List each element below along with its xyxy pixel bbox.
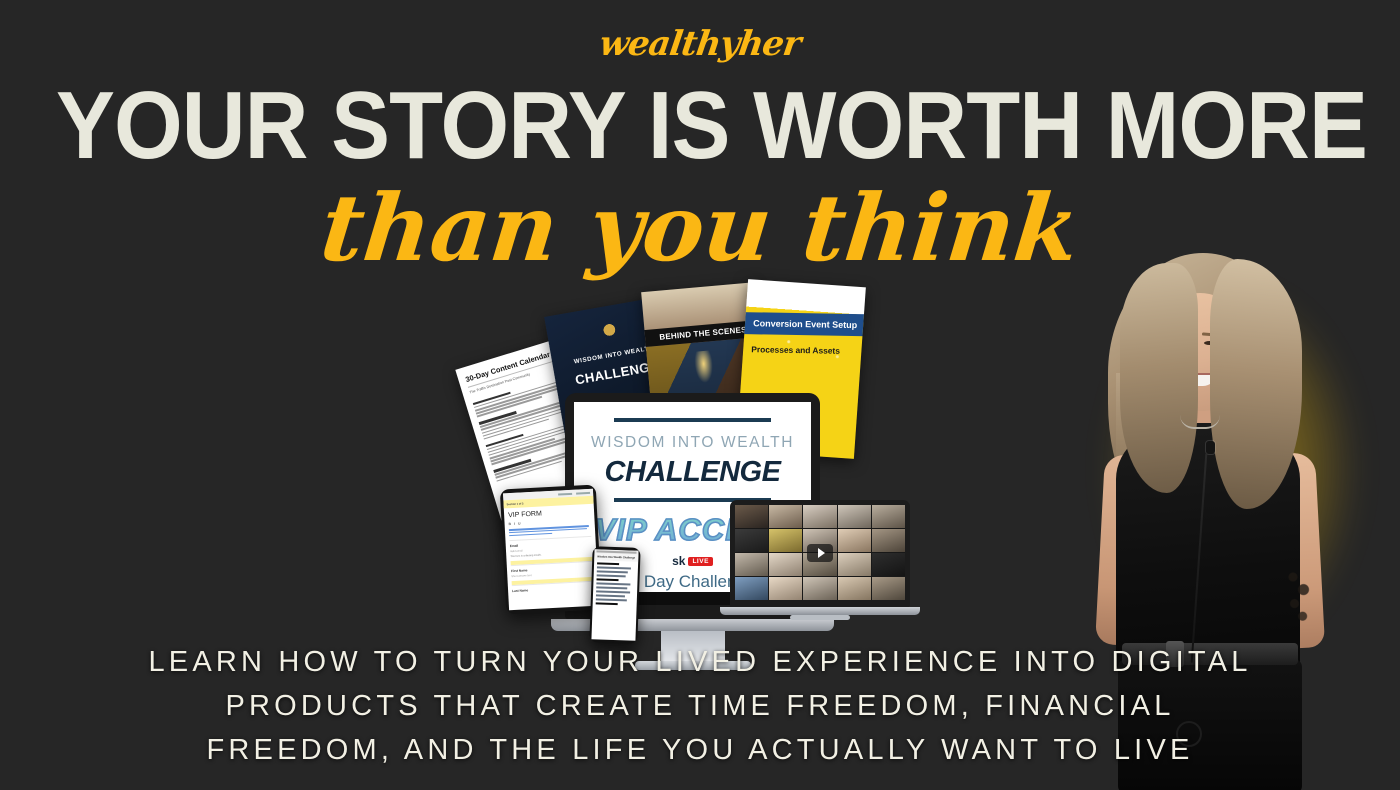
participant-tile bbox=[872, 529, 905, 552]
tablet-screen: Section 1 of 3 VIP FORM B I U Email Vali… bbox=[503, 489, 599, 611]
video-laptop-base bbox=[720, 607, 920, 615]
brand-logo: wealthyher bbox=[0, 24, 1400, 64]
participant-tile bbox=[838, 577, 871, 600]
participant-tile bbox=[838, 529, 871, 552]
phone-mockup: Wisdom Into Wealth Challenge bbox=[589, 546, 640, 644]
video-call-laptop-mockup bbox=[730, 500, 910, 620]
tagline-line-1: LEARN HOW TO TURN YOUR LIVED EXPERIENCE … bbox=[110, 640, 1290, 684]
screen-title: CHALLENGE bbox=[605, 456, 781, 489]
form-section-label: Section 1 of 3 bbox=[506, 502, 523, 506]
phone-session-list bbox=[593, 560, 639, 607]
form-body: VIP FORM B I U Email Valid email This fo… bbox=[504, 504, 598, 597]
participant-tile bbox=[769, 577, 802, 600]
participant-tile bbox=[872, 577, 905, 600]
italic-icon[interactable]: I bbox=[514, 522, 515, 526]
participant-tile bbox=[735, 553, 768, 576]
participant-tile bbox=[735, 505, 768, 528]
tablet-mockup: Section 1 of 3 VIP FORM B I U Email Vali… bbox=[500, 485, 602, 615]
participant-tile bbox=[803, 505, 836, 528]
participant-tile bbox=[735, 529, 768, 552]
participant-tile bbox=[769, 553, 802, 576]
video-laptop-foot bbox=[790, 615, 850, 620]
underline-icon[interactable]: U bbox=[518, 522, 521, 526]
participant-tile bbox=[872, 553, 905, 576]
phone-screen: Wisdom Into Wealth Challenge bbox=[591, 549, 638, 640]
participant-tile bbox=[769, 529, 802, 552]
play-button[interactable] bbox=[807, 544, 833, 562]
arm-tattoo bbox=[1284, 563, 1314, 633]
platform-row: sk LIVE bbox=[672, 554, 713, 568]
form-title: VIP FORM bbox=[508, 508, 590, 519]
doc-conversion-title: Conversion Event Setup bbox=[741, 312, 866, 336]
participant-tile bbox=[838, 553, 871, 576]
participant-tile bbox=[769, 505, 802, 528]
promotional-poster: wealthyher YOUR STORY IS WORTH MORE than… bbox=[0, 0, 1400, 790]
hair-front-left bbox=[1120, 263, 1198, 493]
form-description bbox=[509, 525, 591, 537]
tagline: LEARN HOW TO TURN YOUR LIVED EXPERIENCE … bbox=[110, 640, 1290, 772]
screen-eyebrow: WISDOM INTO WEALTH bbox=[591, 434, 794, 452]
tagline-line-3: FREEDOM, AND THE LIFE YOU ACTUALLY WANT … bbox=[110, 728, 1290, 772]
form-field-last-name-label: Last Name bbox=[512, 585, 594, 593]
participant-tile bbox=[838, 505, 871, 528]
video-laptop-lid bbox=[730, 500, 910, 607]
doc-conversion-subtitle: Processes and Assets bbox=[751, 344, 855, 356]
lavalier-mic-icon bbox=[1206, 441, 1215, 454]
tagline-line-2: PRODUCTS THAT CREATE TIME FREEDOM, FINAN… bbox=[110, 684, 1290, 728]
bold-icon[interactable]: B bbox=[509, 522, 512, 526]
participant-tile bbox=[803, 577, 836, 600]
divider-top bbox=[614, 418, 770, 422]
video-participant-grid bbox=[735, 505, 905, 600]
page-title: YOUR STORY IS WORTH MORE bbox=[56, 82, 1344, 170]
participant-tile bbox=[735, 577, 768, 600]
platform-name: sk bbox=[672, 554, 685, 568]
live-badge: LIVE bbox=[688, 557, 712, 566]
workbook-emblem-icon bbox=[595, 318, 624, 342]
participant-tile bbox=[872, 505, 905, 528]
